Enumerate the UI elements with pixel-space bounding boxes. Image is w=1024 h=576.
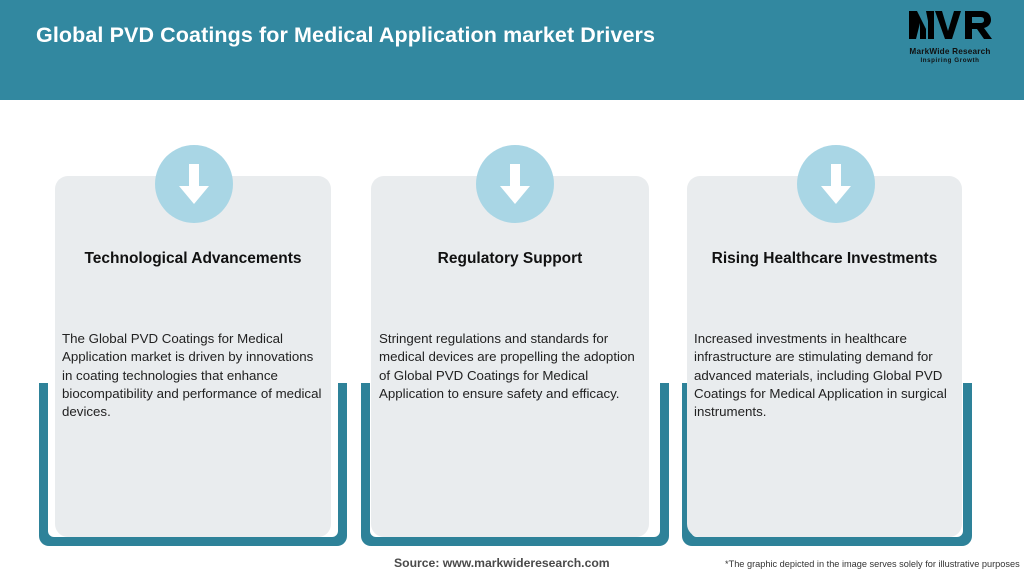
card-body-text: Increased investments in healthcare infr… xyxy=(694,330,960,422)
card-body-text: The Global PVD Coatings for Medical Appl… xyxy=(62,330,324,422)
brand-logo: MarkWide Research Inspiring Growth xyxy=(898,9,1002,71)
footer-source-label: Source: www.markwideresearch.com xyxy=(394,556,610,570)
card-body-text: Stringent regulations and standards for … xyxy=(379,330,641,403)
down-arrow-icon xyxy=(797,145,875,223)
card-title: Rising Healthcare Investments xyxy=(687,248,962,270)
header-band xyxy=(0,0,1024,100)
footer-disclaimer-label: *The graphic depicted in the image serve… xyxy=(725,559,1020,569)
card-title: Regulatory Support xyxy=(371,248,649,270)
page-title: Global PVD Coatings for Medical Applicat… xyxy=(36,23,655,48)
mwr-logo-icon xyxy=(907,9,993,45)
down-arrow-icon xyxy=(155,145,233,223)
down-arrow-icon xyxy=(476,145,554,223)
logo-tagline: Inspiring Growth xyxy=(920,57,979,64)
logo-company-name: MarkWide Research xyxy=(909,47,990,56)
card-title: Technological Advancements xyxy=(55,248,331,270)
